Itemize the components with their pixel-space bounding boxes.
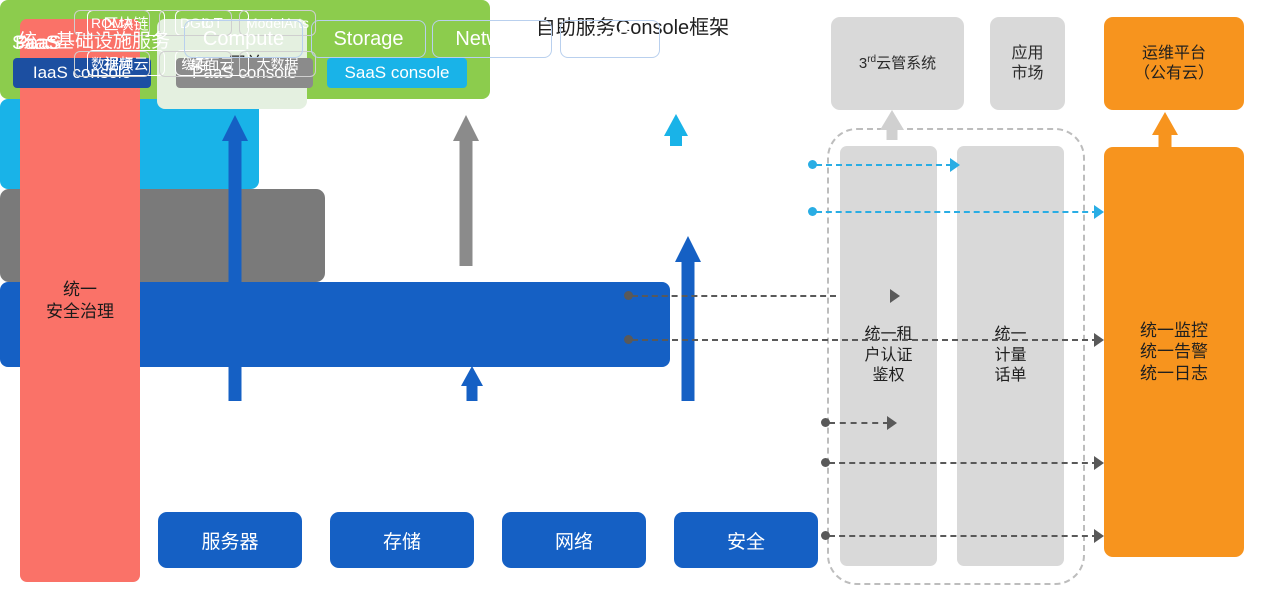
arrow-up-icon-infra-to-saas [681, 236, 694, 401]
arrow-shaft [228, 139, 241, 401]
connector-arrow-head-saas-to-ops [1094, 205, 1104, 219]
paas-chip-database[interactable]: 数据库 [74, 51, 150, 77]
hardware-box-security-label: 安全 [727, 527, 765, 554]
security-governance-label: 统一 安全治理 [46, 279, 114, 322]
arrow-head [222, 115, 248, 141]
tenant-auth-label: 统一租 户认证 鉴权 [864, 325, 912, 387]
connector-line-hardware-to-ops [829, 535, 1098, 537]
arrow-head [453, 115, 479, 141]
connector-line-infra-to-tenant-auth [829, 422, 889, 424]
hardware-box-network: 网络 [502, 512, 646, 568]
arrow-head [880, 110, 904, 130]
infra-chip-storage-label: Storage [333, 28, 403, 51]
architecture-diagram: 统一 安全治理 API网关 自助服务Console框架 IaaS console… [0, 0, 1265, 605]
arrow-shaft [681, 260, 694, 401]
saas-console-chip[interactable]: SaaS console [327, 58, 467, 88]
monitoring-alarm-log-column: 统一监控 统一告警 统一日志 [1104, 147, 1244, 557]
connector-line-saas-to-metering [816, 164, 952, 166]
third-party-cloud-mgmt-box: 3rd云管系统 [831, 17, 964, 110]
saas-console-label: SaaS console [345, 63, 450, 83]
arrow-up-icon-infra-to-paas [466, 366, 477, 401]
arrow-head [1152, 112, 1178, 135]
third-party-prefix: 3 [859, 55, 867, 72]
arrow-up-icon-paas-to-console [459, 115, 472, 266]
third-party-suffix: 云管系统 [876, 55, 936, 72]
hardware-box-security: 安全 [674, 512, 818, 568]
monitoring-alarm-log-label: 统一监控 统一告警 统一日志 [1140, 320, 1208, 384]
connector-arrow-head-hardware-to-ops [1094, 529, 1104, 543]
app-market-box: 应用 市场 [990, 17, 1065, 110]
ops-platform-box: 运维平台 （公有云） [1104, 17, 1244, 110]
metering-billing-column: 统一 计量 话单 [957, 146, 1064, 566]
infra-chip-cce-label: CCE [589, 28, 631, 51]
connector-line-saas-to-ops [816, 211, 1098, 213]
ops-platform-label: 运维平台 （公有云） [1134, 44, 1214, 84]
connector-arrow-head-paas-to-tenant-auth [890, 289, 900, 303]
arrow-up-icon-to-ops-platform [1158, 112, 1171, 148]
hardware-box-server: 服务器 [158, 512, 302, 568]
arrow-shaft [1158, 134, 1171, 148]
infra-chip-network-label: Network [455, 28, 528, 51]
app-market-label: 应用 市场 [1011, 44, 1043, 84]
arrow-up-icon-saas-to-console [670, 114, 682, 146]
third-party-ordinal: rd [867, 54, 876, 65]
paas-chip-database-label: 数据库 [91, 54, 133, 74]
connector-arrow-head-infra-to-tenant-auth [887, 416, 897, 430]
infra-chip-compute[interactable]: Compute [184, 20, 303, 58]
infra-chip-network[interactable]: Network [432, 20, 552, 58]
arrow-head [461, 366, 483, 386]
connector-line-infra-to-ops [829, 462, 1098, 464]
tenant-auth-column: 统一租 户认证 鉴权 [840, 146, 937, 566]
connector-arrow-head-saas-to-metering [950, 158, 960, 172]
infra-chip-storage[interactable]: Storage [311, 20, 426, 58]
unified-infrastructure-label: 统一基础设施服务 [18, 26, 170, 53]
hardware-box-storage: 存储 [330, 512, 474, 568]
security-governance-panel: 统一 安全治理 [20, 19, 140, 582]
hardware-box-server-label: 服务器 [201, 527, 258, 554]
arrow-up-icon-to-api-gateway [228, 115, 241, 401]
infra-chip-cce[interactable]: CCE [560, 20, 660, 58]
third-party-label: 3rd云管系统 [859, 54, 936, 74]
connector-arrow-head-infra-to-ops [1094, 456, 1104, 470]
arrow-up-icon-to-third-party [886, 110, 897, 140]
arrow-head [664, 114, 688, 136]
infra-chip-compute-label: Compute [203, 28, 284, 51]
metering-billing-label: 统一 计量 话单 [994, 325, 1026, 387]
hardware-box-storage-label: 存储 [383, 527, 421, 554]
arrow-head [675, 236, 701, 262]
connector-arrow-head-paas-to-ops [1094, 333, 1104, 347]
arrow-shaft [670, 134, 682, 146]
arrow-shaft [466, 385, 477, 401]
hardware-box-network-label: 网络 [555, 527, 593, 554]
connector-line-paas-to-ops [632, 339, 1098, 341]
connector-line-paas-to-tenant-auth [632, 295, 836, 297]
arrow-shaft [886, 128, 897, 140]
arrow-shaft [459, 139, 472, 266]
